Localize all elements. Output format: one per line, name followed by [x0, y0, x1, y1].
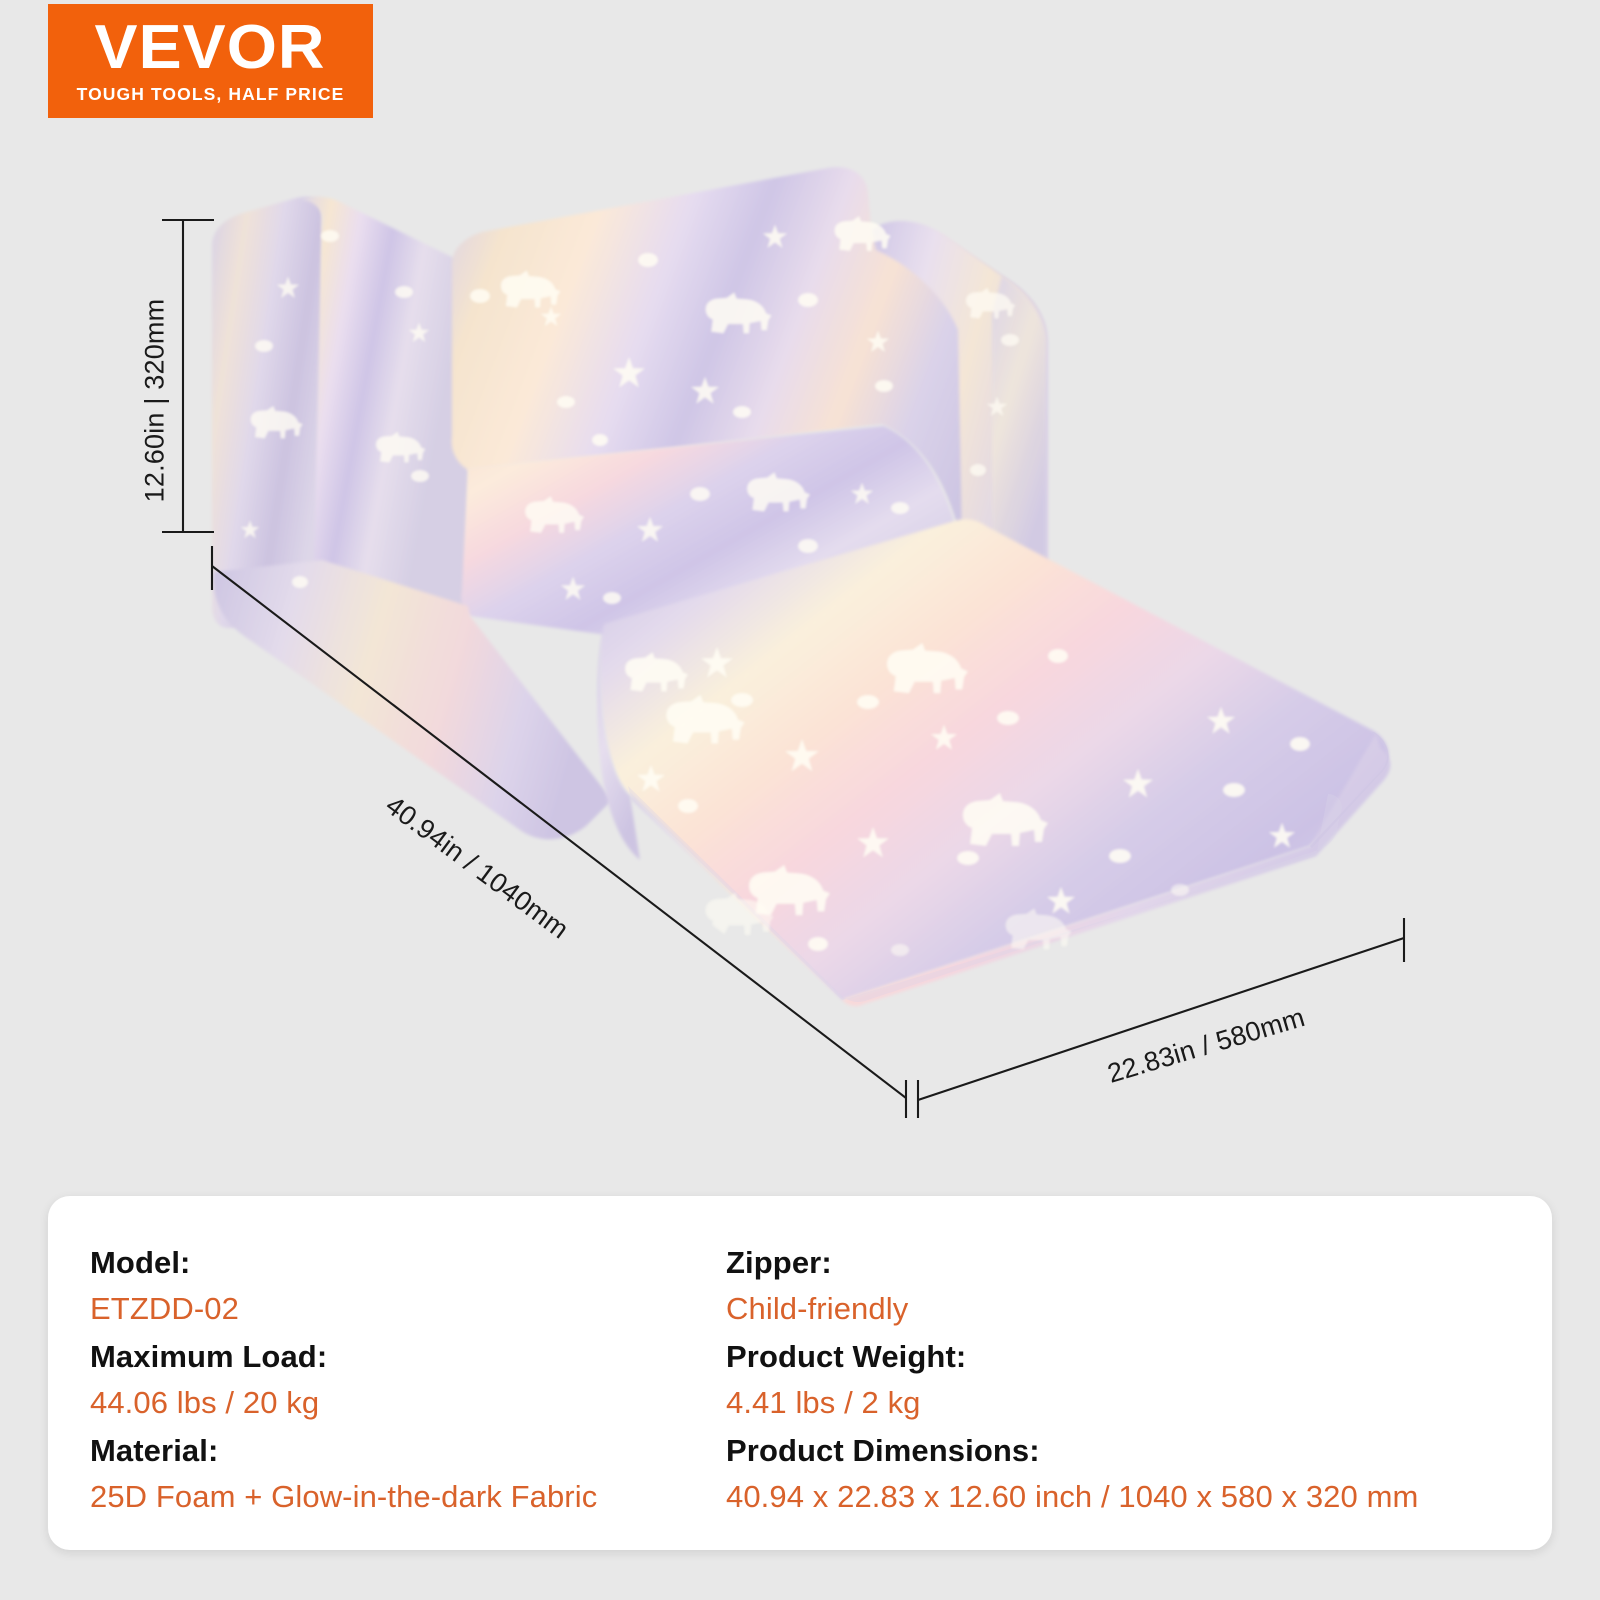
right-armrest-side	[992, 276, 1046, 562]
spec-value-product-dimensions: 40.94 x 22.83 x 12.60 inch / 1040 x 580 …	[726, 1473, 1418, 1520]
spec-row-product-dimensions: Product Dimensions: 40.94 x 22.83 x 12.6…	[726, 1428, 1418, 1520]
spec-value-model: ETZDD-02	[90, 1285, 597, 1332]
spec-column-left: Model: ETZDD-02 Maximum Load: 44.06 lbs …	[90, 1240, 597, 1522]
spec-key-product-dimensions: Product Dimensions:	[726, 1428, 1418, 1473]
spec-value-material: 25D Foam + Glow-in-the-dark Fabric	[90, 1473, 597, 1520]
product-illustration: 12.60in | 320mm 40.94in / 1040mm 22.83in…	[0, 0, 1600, 1180]
dimension-label-height: 12.60in | 320mm	[140, 241, 171, 561]
spec-value-zipper: Child-friendly	[726, 1285, 1418, 1332]
spec-value-maximum-load: 44.06 lbs / 20 kg	[90, 1379, 597, 1426]
specification-card: Model: ETZDD-02 Maximum Load: 44.06 lbs …	[48, 1196, 1552, 1550]
spec-row-maximum-load: Maximum Load: 44.06 lbs / 20 kg	[90, 1334, 597, 1426]
spec-key-model: Model:	[90, 1240, 597, 1285]
spec-row-model: Model: ETZDD-02	[90, 1240, 597, 1332]
product-spec-page: VEVOR TOUGH TOOLS, HALF PRICE	[0, 0, 1600, 1600]
spec-value-product-weight: 4.41 lbs / 2 kg	[726, 1379, 1418, 1426]
spec-key-product-weight: Product Weight:	[726, 1334, 1418, 1379]
spec-key-material: Material:	[90, 1428, 597, 1473]
spec-row-zipper: Zipper: Child-friendly	[726, 1240, 1418, 1332]
spec-key-maximum-load: Maximum Load:	[90, 1334, 597, 1379]
spec-column-right: Zipper: Child-friendly Product Weight: 4…	[726, 1240, 1418, 1522]
spec-row-product-weight: Product Weight: 4.41 lbs / 2 kg	[726, 1334, 1418, 1426]
product-drawing	[0, 0, 1600, 1180]
spec-row-material: Material: 25D Foam + Glow-in-the-dark Fa…	[90, 1428, 597, 1520]
spec-key-zipper: Zipper:	[726, 1240, 1418, 1285]
